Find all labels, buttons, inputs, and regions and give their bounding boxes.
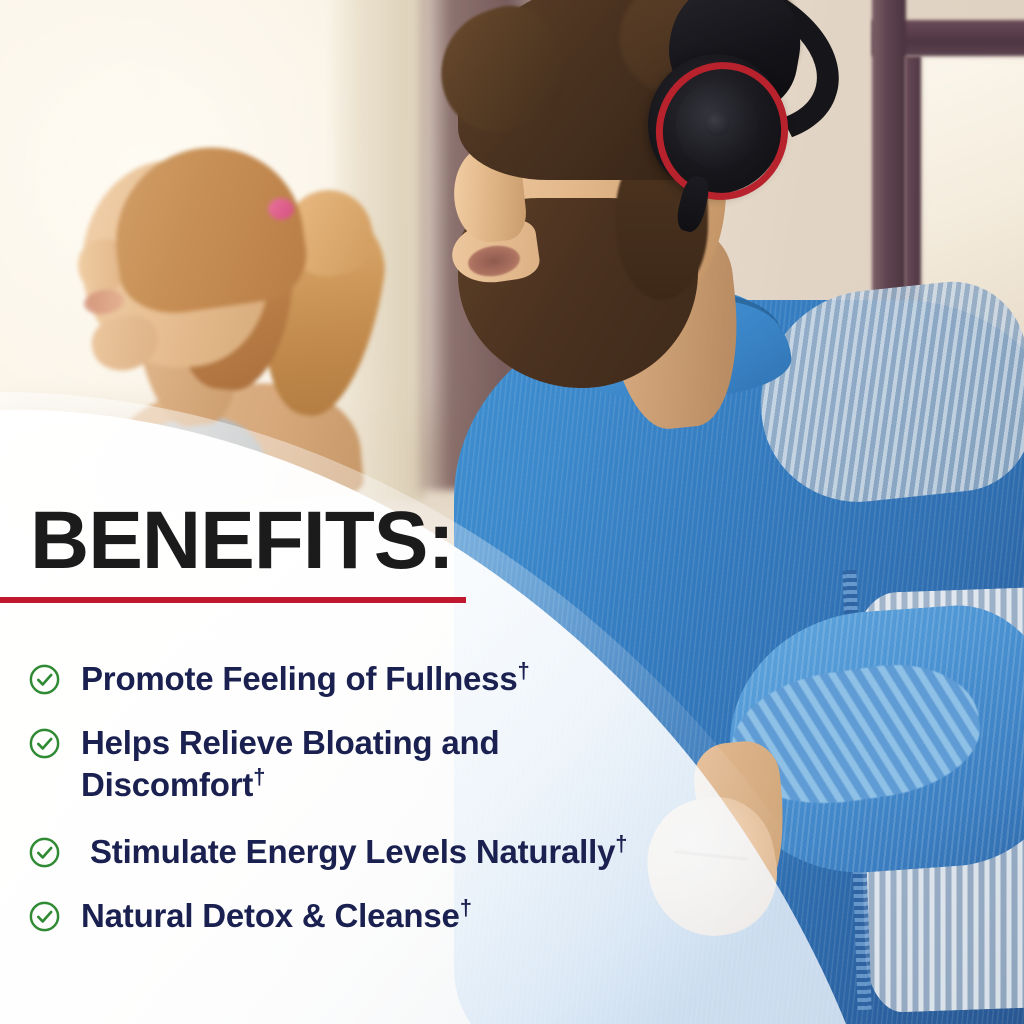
check-circle-icon <box>28 900 61 933</box>
check-circle-icon <box>28 727 61 760</box>
benefit-text-3: Natural Detox & Cleanse <box>81 897 460 934</box>
content-layer: BENEFITS: Promote Feeling of Fullness† <box>0 0 1024 1024</box>
dagger-symbol-2: † <box>615 831 627 856</box>
benefit-text-2: Stimulate Energy Levels Naturally <box>81 833 615 870</box>
list-item: Promote Feeling of Fullness† <box>28 658 788 700</box>
list-item: Helps Relieve Bloating and Discomfort† <box>28 722 788 806</box>
check-circle-icon <box>28 836 61 869</box>
benefit-label: Promote Feeling of Fullness† <box>81 658 530 700</box>
dagger-symbol-1: † <box>253 764 265 789</box>
promo-banner: BENEFITS: Promote Feeling of Fullness† <box>0 0 1024 1024</box>
benefit-label: Helps Relieve Bloating and Discomfort† <box>81 722 499 806</box>
dagger-symbol-3: † <box>460 895 472 920</box>
list-item: Stimulate Energy Levels Naturally† <box>28 831 788 873</box>
dagger-symbol-0: † <box>518 658 530 683</box>
benefit-label: Stimulate Energy Levels Naturally† <box>81 831 627 873</box>
page-title: BENEFITS: <box>30 500 454 582</box>
benefit-text-1: Helps Relieve Bloating and Discomfort <box>81 724 499 803</box>
benefit-label: Natural Detox & Cleanse† <box>81 895 472 937</box>
check-circle-icon <box>28 663 61 696</box>
list-item: Natural Detox & Cleanse† <box>28 895 788 937</box>
title-underline-rule <box>0 597 466 603</box>
benefit-text-0: Promote Feeling of Fullness <box>81 660 518 697</box>
benefits-list: Promote Feeling of Fullness† Helps Relie… <box>28 658 788 957</box>
